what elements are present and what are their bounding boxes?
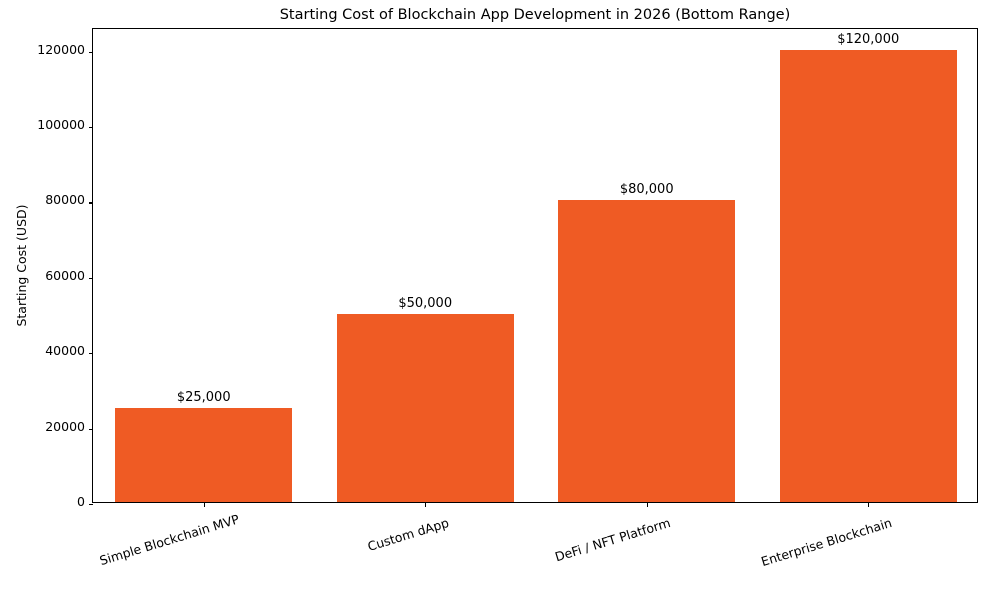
bar[interactable] xyxy=(780,50,957,502)
bar-value-label: $25,000 xyxy=(115,390,292,405)
bar-value-label: $50,000 xyxy=(337,296,514,311)
y-axis-tick-label: 100000 xyxy=(15,117,85,132)
bar[interactable] xyxy=(558,200,735,502)
y-axis-tick-label: 80000 xyxy=(15,192,85,207)
x-axis-tick-label: Simple Blockchain MVP xyxy=(98,515,229,568)
bar[interactable] xyxy=(115,408,292,502)
y-axis-tick-mark xyxy=(89,278,94,279)
bar-value-label: $80,000 xyxy=(558,182,735,197)
plot-area: $25,000$50,000$80,000$120,000 xyxy=(92,28,978,503)
y-axis-tick-mark xyxy=(89,202,94,203)
y-axis-tick-label: 120000 xyxy=(15,42,85,57)
bar[interactable] xyxy=(337,314,514,502)
y-axis-tick-label: 60000 xyxy=(15,268,85,283)
y-axis-tick-mark xyxy=(89,353,94,354)
bars-layer: $25,000$50,000$80,000$120,000 xyxy=(93,29,977,502)
y-axis-tick-label: 0 xyxy=(15,494,85,509)
y-axis-tick-label: 20000 xyxy=(15,419,85,434)
y-axis-tick-mark xyxy=(89,52,94,53)
chart-title: Starting Cost of Blockchain App Developm… xyxy=(92,5,978,25)
y-axis-tick-labels: 020000400006000080000100000120000 xyxy=(13,0,85,590)
x-axis-tick-labels: Simple Blockchain MVPCustom dAppDeFi / N… xyxy=(92,503,978,590)
y-axis-tick-mark xyxy=(89,429,94,430)
y-axis-tick-label: 40000 xyxy=(15,343,85,358)
chart-figure: Starting Cost of Blockchain App Developm… xyxy=(0,0,989,590)
x-axis-tick-label: Custom dApp xyxy=(107,515,450,590)
bar-value-label: $120,000 xyxy=(780,32,957,47)
y-axis-tick-mark xyxy=(89,127,94,128)
